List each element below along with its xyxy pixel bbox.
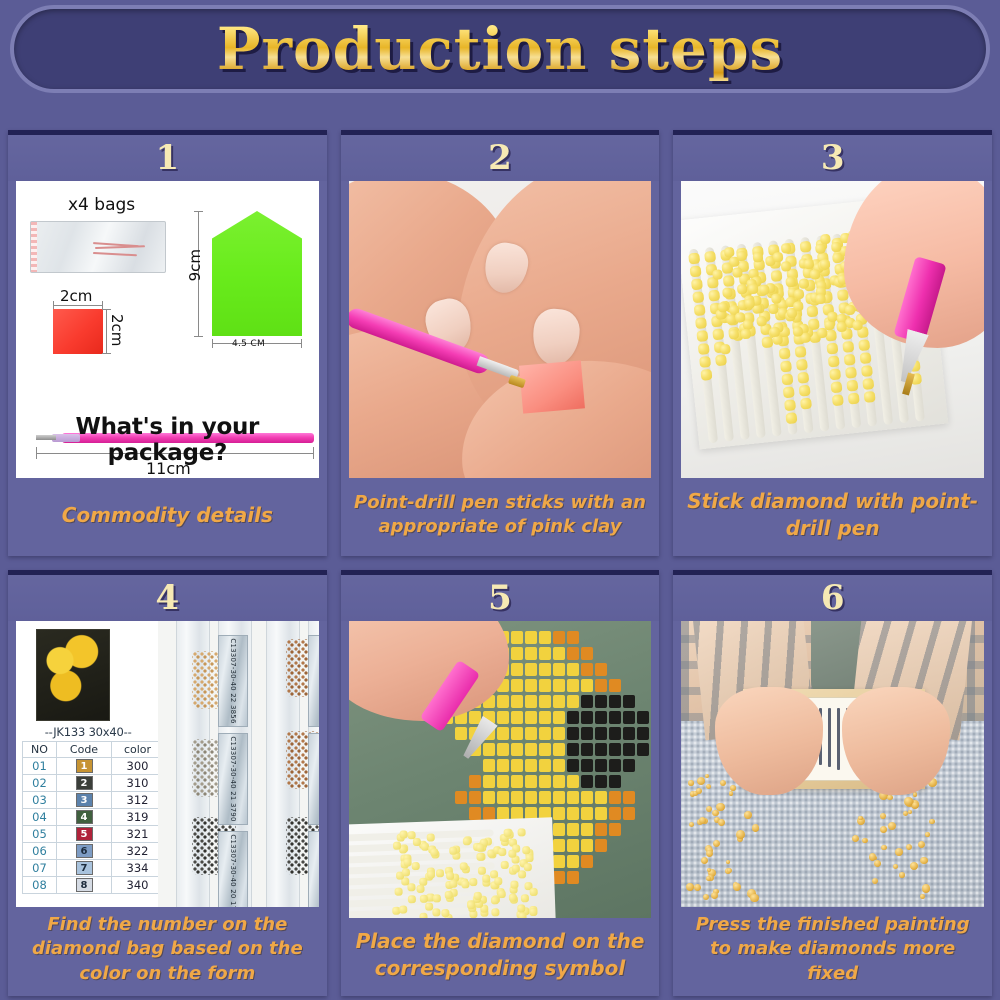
canvas-pixel [637, 727, 649, 740]
canvas-pixel [581, 663, 593, 676]
steps-grid: 1 x4 bags 2cm 2cm 9cm [0, 130, 1000, 996]
cell-color: 312 [112, 792, 164, 809]
diamond-bead [448, 879, 456, 887]
needles-icon [93, 240, 151, 256]
canvas-pixel [525, 791, 537, 804]
canvas-pixel [525, 743, 537, 756]
page-title: Production steps [217, 15, 783, 83]
gold-bead [701, 857, 708, 864]
diamond-bead [463, 837, 471, 845]
canvas-pixel [595, 823, 607, 836]
diamond-bead [523, 863, 531, 871]
canvas-pixel [511, 647, 523, 660]
diamond-bead [518, 912, 526, 918]
canvas-pixel [609, 807, 621, 820]
canvas-pixel [525, 695, 537, 708]
photo-pen-and-clay [349, 181, 652, 478]
diamond-bead [461, 880, 469, 888]
gold-bead [750, 894, 759, 903]
step-caption-4: Find the number on the diamond bag based… [8, 907, 327, 996]
cell-no: 04 [23, 809, 57, 826]
canvas-pixel [595, 663, 607, 676]
table-row: 055321 [23, 826, 164, 843]
step-media-4: --JK133 30x40-- NO Code color 0113000223… [16, 621, 319, 907]
step-panel-3: 3 Stick diamond with point-drill pen [673, 130, 992, 556]
canvas-pixel [595, 839, 607, 852]
cell-no: 06 [23, 843, 57, 860]
canvas-pixel [483, 775, 495, 788]
color-swatch: 3 [76, 793, 93, 807]
canvas-pixel [525, 727, 537, 740]
canvas-pixel [623, 695, 635, 708]
canvas-pixel [511, 759, 523, 772]
tick [194, 211, 203, 212]
canvas-pixel [469, 775, 481, 788]
step-media-6 [681, 621, 984, 907]
tick [301, 339, 302, 348]
color-swatch: 8 [76, 878, 93, 892]
step-media-2 [349, 181, 652, 478]
canvas-pixel [539, 759, 551, 772]
canvas-pixel [469, 807, 481, 820]
canvas-pixel [567, 823, 579, 836]
diamond-bead [494, 877, 502, 885]
canvas-pixel [581, 855, 593, 868]
bag-label-text: C13307-30-40 20 1781 [229, 834, 237, 907]
canvas-pixel [623, 743, 635, 756]
canvas-pixel [609, 775, 621, 788]
canvas-pixel [595, 727, 607, 740]
step-panel-1: 1 x4 bags 2cm 2cm 9cm [8, 130, 327, 556]
step-caption-3: Stick diamond with point-drill pen [673, 478, 992, 556]
gold-bead [874, 860, 881, 867]
diamond-bead [500, 861, 508, 869]
canvas-pixel [469, 711, 481, 724]
diamond-bead [419, 913, 427, 918]
canvas-pixel [511, 775, 523, 788]
canvas-pixel [567, 647, 579, 660]
diamond-bead [412, 837, 420, 845]
canvas-pixel [567, 663, 579, 676]
diamond-bead [773, 252, 784, 263]
color-swatch: 6 [76, 844, 93, 858]
canvas-pixel [553, 823, 565, 836]
canvas-pixel [623, 727, 635, 740]
canvas-pixel [539, 775, 551, 788]
diamond-bead [407, 895, 415, 903]
book-text-line [837, 708, 840, 770]
diamond-bead [394, 888, 402, 896]
diamond-bead [507, 850, 515, 858]
step-media-5 [349, 621, 652, 918]
package-heading: What's in your package? [16, 414, 319, 466]
canvas-pixel [553, 727, 565, 740]
canvas-pixel [525, 663, 537, 676]
table-row: 066322 [23, 843, 164, 860]
canvas-pixel [483, 807, 495, 820]
diamond-bead [419, 895, 427, 903]
tray-groove [349, 862, 495, 874]
bag-label-text: C13307-30-40 22 3856 [229, 638, 237, 723]
bag-label: C13307-30-40 21 3790 [218, 733, 248, 825]
diamond-bead [794, 288, 805, 299]
table-header-row: NO Code color [23, 742, 164, 758]
canvas-pixel [511, 791, 523, 804]
cell-no: 01 [23, 758, 57, 775]
table-row: 088340 [23, 877, 164, 894]
package-contents-diagram: x4 bags 2cm 2cm 9cm [16, 181, 319, 478]
canvas-pixel [553, 855, 565, 868]
diamond-bead [401, 868, 409, 876]
gold-bead [718, 819, 725, 826]
gold-bead [899, 872, 904, 877]
gold-bead [925, 832, 930, 837]
canvas-pixel [609, 743, 621, 756]
cell-no: 07 [23, 860, 57, 877]
canvas-pixel [511, 695, 523, 708]
cell-no: 05 [23, 826, 57, 843]
diamond-bead [433, 894, 441, 902]
col-color: color [112, 742, 164, 758]
canvas-pixel [581, 679, 593, 692]
canvas-pixel [609, 711, 621, 724]
canvas-pixel [637, 743, 649, 756]
diamond-bead [793, 301, 804, 312]
diamond-bead [498, 848, 506, 856]
cell-no: 02 [23, 775, 57, 792]
canvas-pixel [553, 631, 565, 644]
tray-groove [349, 851, 494, 863]
gold-bead [913, 792, 917, 796]
diamond-bead [441, 909, 449, 917]
gold-bead [852, 835, 859, 842]
canvas-pixel [567, 839, 579, 852]
canvas-pixel [483, 759, 495, 772]
gold-bead [733, 883, 741, 891]
diamond-bead [398, 905, 406, 913]
step-number-2: 2 [341, 135, 660, 181]
canvas-pixel [455, 727, 467, 740]
diamond-bead [467, 901, 475, 909]
step-caption-5: Place the diamond on the corresponding s… [341, 918, 660, 996]
gold-bead [699, 817, 706, 824]
cell-no: 03 [23, 792, 57, 809]
canvas-pixel [497, 743, 509, 756]
canvas-pixel [581, 711, 593, 724]
canvas-pixel [539, 679, 551, 692]
pink-clay [519, 360, 585, 413]
diamond-bead [510, 880, 518, 888]
diamond-bead [424, 902, 432, 910]
diamond-bead [735, 312, 746, 323]
diamond-bead [490, 909, 498, 917]
step-number-6: 6 [673, 575, 992, 621]
color-swatch: 4 [76, 810, 93, 824]
diamond-bead [473, 892, 481, 900]
canvas-pixel [637, 711, 649, 724]
diamond-bead [518, 870, 526, 878]
canvas-pixel [511, 679, 523, 692]
chart-and-bags: --JK133 30x40-- NO Code color 0113000223… [16, 621, 319, 907]
diamond-bead [503, 828, 511, 836]
diamond-bead [416, 884, 424, 892]
canvas-pixel [581, 839, 593, 852]
step-number-5: 5 [341, 575, 660, 621]
bag-label: C13307-30-40 02 301 [308, 733, 318, 825]
diamond-bead [449, 847, 457, 855]
diamond-bead [476, 853, 484, 861]
canvas-pixel [525, 775, 537, 788]
table-row: 033312 [23, 792, 164, 809]
canvas-pixel [553, 711, 565, 724]
bag-label: C13307-30-40 20 1781 [218, 831, 248, 907]
diamond-bead [469, 878, 477, 886]
gold-bead [744, 811, 752, 819]
gold-bead [893, 864, 898, 869]
color-swatch: 2 [76, 776, 93, 790]
step-panel-4: 4 --JK133 30x40-- NO Code color [8, 570, 327, 996]
bag-label: C13307-30-40 03 310 [308, 831, 318, 907]
canvas-pixel [567, 775, 579, 788]
canvas-pixel [497, 759, 509, 772]
col-no: NO [23, 742, 57, 758]
cell-color: 319 [112, 809, 164, 826]
tick [102, 353, 111, 354]
canvas-pixel [539, 631, 551, 644]
canvas-pixel [525, 631, 537, 644]
canvas-pixel [567, 743, 579, 756]
canvas-pixel [595, 711, 607, 724]
gold-bead [910, 862, 918, 870]
bags-label: x4 bags [68, 195, 135, 215]
canvas-pixel [469, 791, 481, 804]
canvas-pixel [539, 743, 551, 756]
step-caption-1: Commodity details [8, 478, 327, 556]
canvas-pixel [539, 647, 551, 660]
canvas-pixel [511, 727, 523, 740]
color-swatch: 1 [76, 759, 93, 773]
diamond-bead [399, 831, 407, 839]
canvas-pixel [567, 807, 579, 820]
step-caption-2: Point-drill pen sticks with an appropria… [341, 478, 660, 556]
canvas-pixel [553, 839, 565, 852]
gold-bead [920, 857, 927, 864]
step-panel-5: 5 Place the diamond on the corresponding… [341, 570, 660, 996]
diamond-bead [475, 844, 483, 852]
canvas-pixel [609, 679, 621, 692]
clay-height-rule [106, 309, 107, 354]
photo-canvas-placement [349, 621, 652, 918]
cell-code: 2 [57, 775, 112, 792]
photo-pressing-painting [681, 621, 984, 907]
color-legend-table: NO Code color 01130002231003331204431905… [22, 741, 164, 894]
canvas-pixel [567, 727, 579, 740]
canvas-pixel [595, 759, 607, 772]
table-row: 011300 [23, 758, 164, 775]
diamond-bead [509, 893, 517, 901]
canvas-pixel [609, 823, 621, 836]
canvas-pixel [581, 727, 593, 740]
diamond-bead [785, 276, 796, 287]
diamond-bead [490, 896, 498, 904]
canvas-pixel [553, 695, 565, 708]
diamond-bead [392, 841, 400, 849]
canvas-pixel [581, 759, 593, 772]
canvas-pixel [595, 775, 607, 788]
gold-bead [706, 850, 713, 857]
canvas-pixel [511, 663, 523, 676]
canvas-pixel [511, 743, 523, 756]
gold-bead [703, 894, 709, 900]
diamond-bead [477, 866, 485, 874]
tray-width-label: 4.5 CM [232, 339, 265, 349]
canvas-pixel [553, 679, 565, 692]
canvas-pixel [567, 871, 579, 884]
canvas-pixel [567, 855, 579, 868]
canvas-pixel [539, 695, 551, 708]
gold-bead [887, 795, 892, 800]
canvas-pixel [581, 647, 593, 660]
bag-label: C13307-30-40 22 3856 [218, 635, 248, 727]
gold-bead [694, 884, 701, 891]
canvas-pixel [595, 679, 607, 692]
tick [102, 309, 111, 310]
canvas-pixel [595, 807, 607, 820]
diamond-bead [517, 829, 525, 837]
canvas-pixel [567, 679, 579, 692]
canvas-pixel [567, 695, 579, 708]
canvas-pixel [483, 791, 495, 804]
gold-bead [716, 803, 724, 811]
step-media-1: x4 bags 2cm 2cm 9cm [16, 181, 319, 478]
cell-code: 3 [57, 792, 112, 809]
cell-code: 8 [57, 877, 112, 894]
cell-code: 1 [57, 758, 112, 775]
tick [194, 336, 203, 337]
canvas-pixel [623, 711, 635, 724]
canvas-pixel [595, 743, 607, 756]
canvas-pixel [539, 711, 551, 724]
diamond-bead [520, 894, 528, 902]
cell-color: 322 [112, 843, 164, 860]
color-swatch: 7 [76, 861, 93, 875]
canvas-pixel [595, 695, 607, 708]
diamond-bead [497, 890, 505, 898]
color-swatch: 5 [76, 827, 93, 841]
clay-height-label: 2cm [108, 314, 126, 346]
diamond-bead [522, 846, 530, 854]
diamond-bead [427, 870, 435, 878]
diamond-bead [781, 243, 792, 254]
canvas-pixel [623, 759, 635, 772]
green-tray-image [212, 211, 302, 336]
canvas-pixel [511, 711, 523, 724]
canvas-pixel [497, 727, 509, 740]
canvas-pixel [539, 791, 551, 804]
diamond-tray [349, 817, 556, 918]
diamond-bead [721, 344, 732, 355]
diamond-bead [748, 283, 759, 294]
canvas-pixel [609, 791, 621, 804]
tick [212, 339, 213, 348]
gold-bead [872, 878, 878, 884]
cell-code: 6 [57, 843, 112, 860]
diamond-bead [426, 833, 434, 841]
canvas-pixel [595, 791, 607, 804]
cell-code: 4 [57, 809, 112, 826]
canvas-pixel [553, 759, 565, 772]
canvas-pixel [483, 743, 495, 756]
legend-title: --JK133 30x40-- [22, 725, 154, 739]
canvas-pixel [553, 647, 565, 660]
gold-bead [912, 802, 918, 808]
gold-bead [904, 797, 913, 806]
gold-bead [880, 826, 886, 832]
canvas-pixel [567, 711, 579, 724]
canvas-pixel [539, 727, 551, 740]
canvas-pixel [581, 695, 593, 708]
needle-bag-image [30, 221, 166, 273]
canvas-pixel [581, 775, 593, 788]
canvas-pixel [525, 759, 537, 772]
diamond-bead [412, 862, 420, 870]
diamond-bead [444, 891, 452, 899]
canvas-pixel [553, 775, 565, 788]
canvas-pixel [581, 791, 593, 804]
clay-square-image [53, 309, 103, 354]
canvas-pixel [553, 791, 565, 804]
gold-bead [729, 791, 733, 795]
canvas-pixel [553, 663, 565, 676]
gold-bead [730, 785, 736, 791]
cell-color: 340 [112, 877, 164, 894]
diamond-bead [724, 246, 735, 257]
canvas-pixel [581, 807, 593, 820]
diamond-bead [403, 858, 411, 866]
diamond-bead [529, 888, 537, 896]
diamond-bead [430, 849, 438, 857]
gold-bead [881, 845, 887, 851]
diamond-bead [525, 854, 533, 862]
book-text-line [828, 708, 831, 767]
clay-width-rule [53, 305, 103, 306]
step-number-4: 4 [8, 575, 327, 621]
table-row: 022310 [23, 775, 164, 792]
gold-bead [686, 883, 694, 891]
canvas-pixel [581, 823, 593, 836]
canvas-pixel [455, 791, 467, 804]
canvas-pixel [609, 759, 621, 772]
diamond-bead [445, 871, 453, 879]
canvas-pixel [609, 727, 621, 740]
bags-side: C13307-30-40 22 3856C13307-30-40 01 300C… [158, 621, 318, 907]
sunflower-thumbnail [36, 629, 110, 721]
cell-color: 310 [112, 775, 164, 792]
gold-bead [688, 780, 693, 785]
canvas-pixel [497, 695, 509, 708]
canvas-pixel [525, 711, 537, 724]
canvas-pixel [567, 631, 579, 644]
diamond-bead [529, 908, 537, 916]
step-caption-6: Press the finished painting to make diam… [673, 907, 992, 996]
title-banner: Production steps [10, 5, 990, 93]
gold-bead [862, 838, 867, 843]
diamond-bead [712, 269, 723, 280]
step-panel-2: 2 Point-drill pen sticks with an appropr… [341, 130, 660, 556]
canvas-pixel [525, 647, 537, 660]
cell-color: 321 [112, 826, 164, 843]
step-number-3: 3 [673, 135, 992, 181]
